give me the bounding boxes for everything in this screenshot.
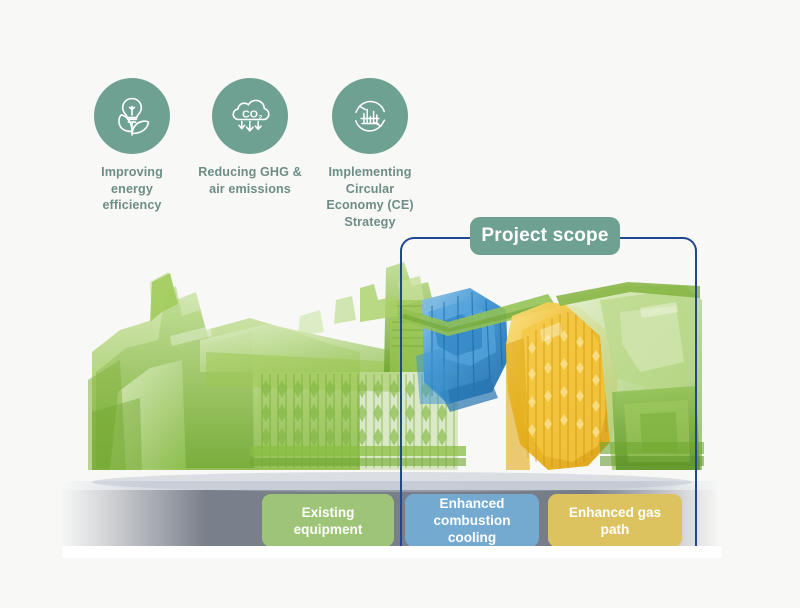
legend-item-existing-equipment[interactable]: Existing equipment (262, 494, 394, 547)
bottom-white-strip (62, 546, 722, 558)
legend-item-enhanced-gas-path[interactable]: Enhanced gas path (548, 494, 682, 547)
diagram-canvas: Improving energy efficiency CO 2 (0, 0, 800, 608)
legend: Existing equipment Enhanced combustion c… (0, 494, 800, 548)
legend-item-enhanced-combustion-cooling[interactable]: Enhanced combustion cooling (405, 494, 539, 547)
legend-label: Enhanced combustion cooling (413, 495, 531, 546)
project-scope-badge[interactable]: Project scope (470, 217, 620, 255)
legend-label: Existing equipment (270, 504, 386, 538)
legend-label: Enhanced gas path (556, 504, 674, 538)
